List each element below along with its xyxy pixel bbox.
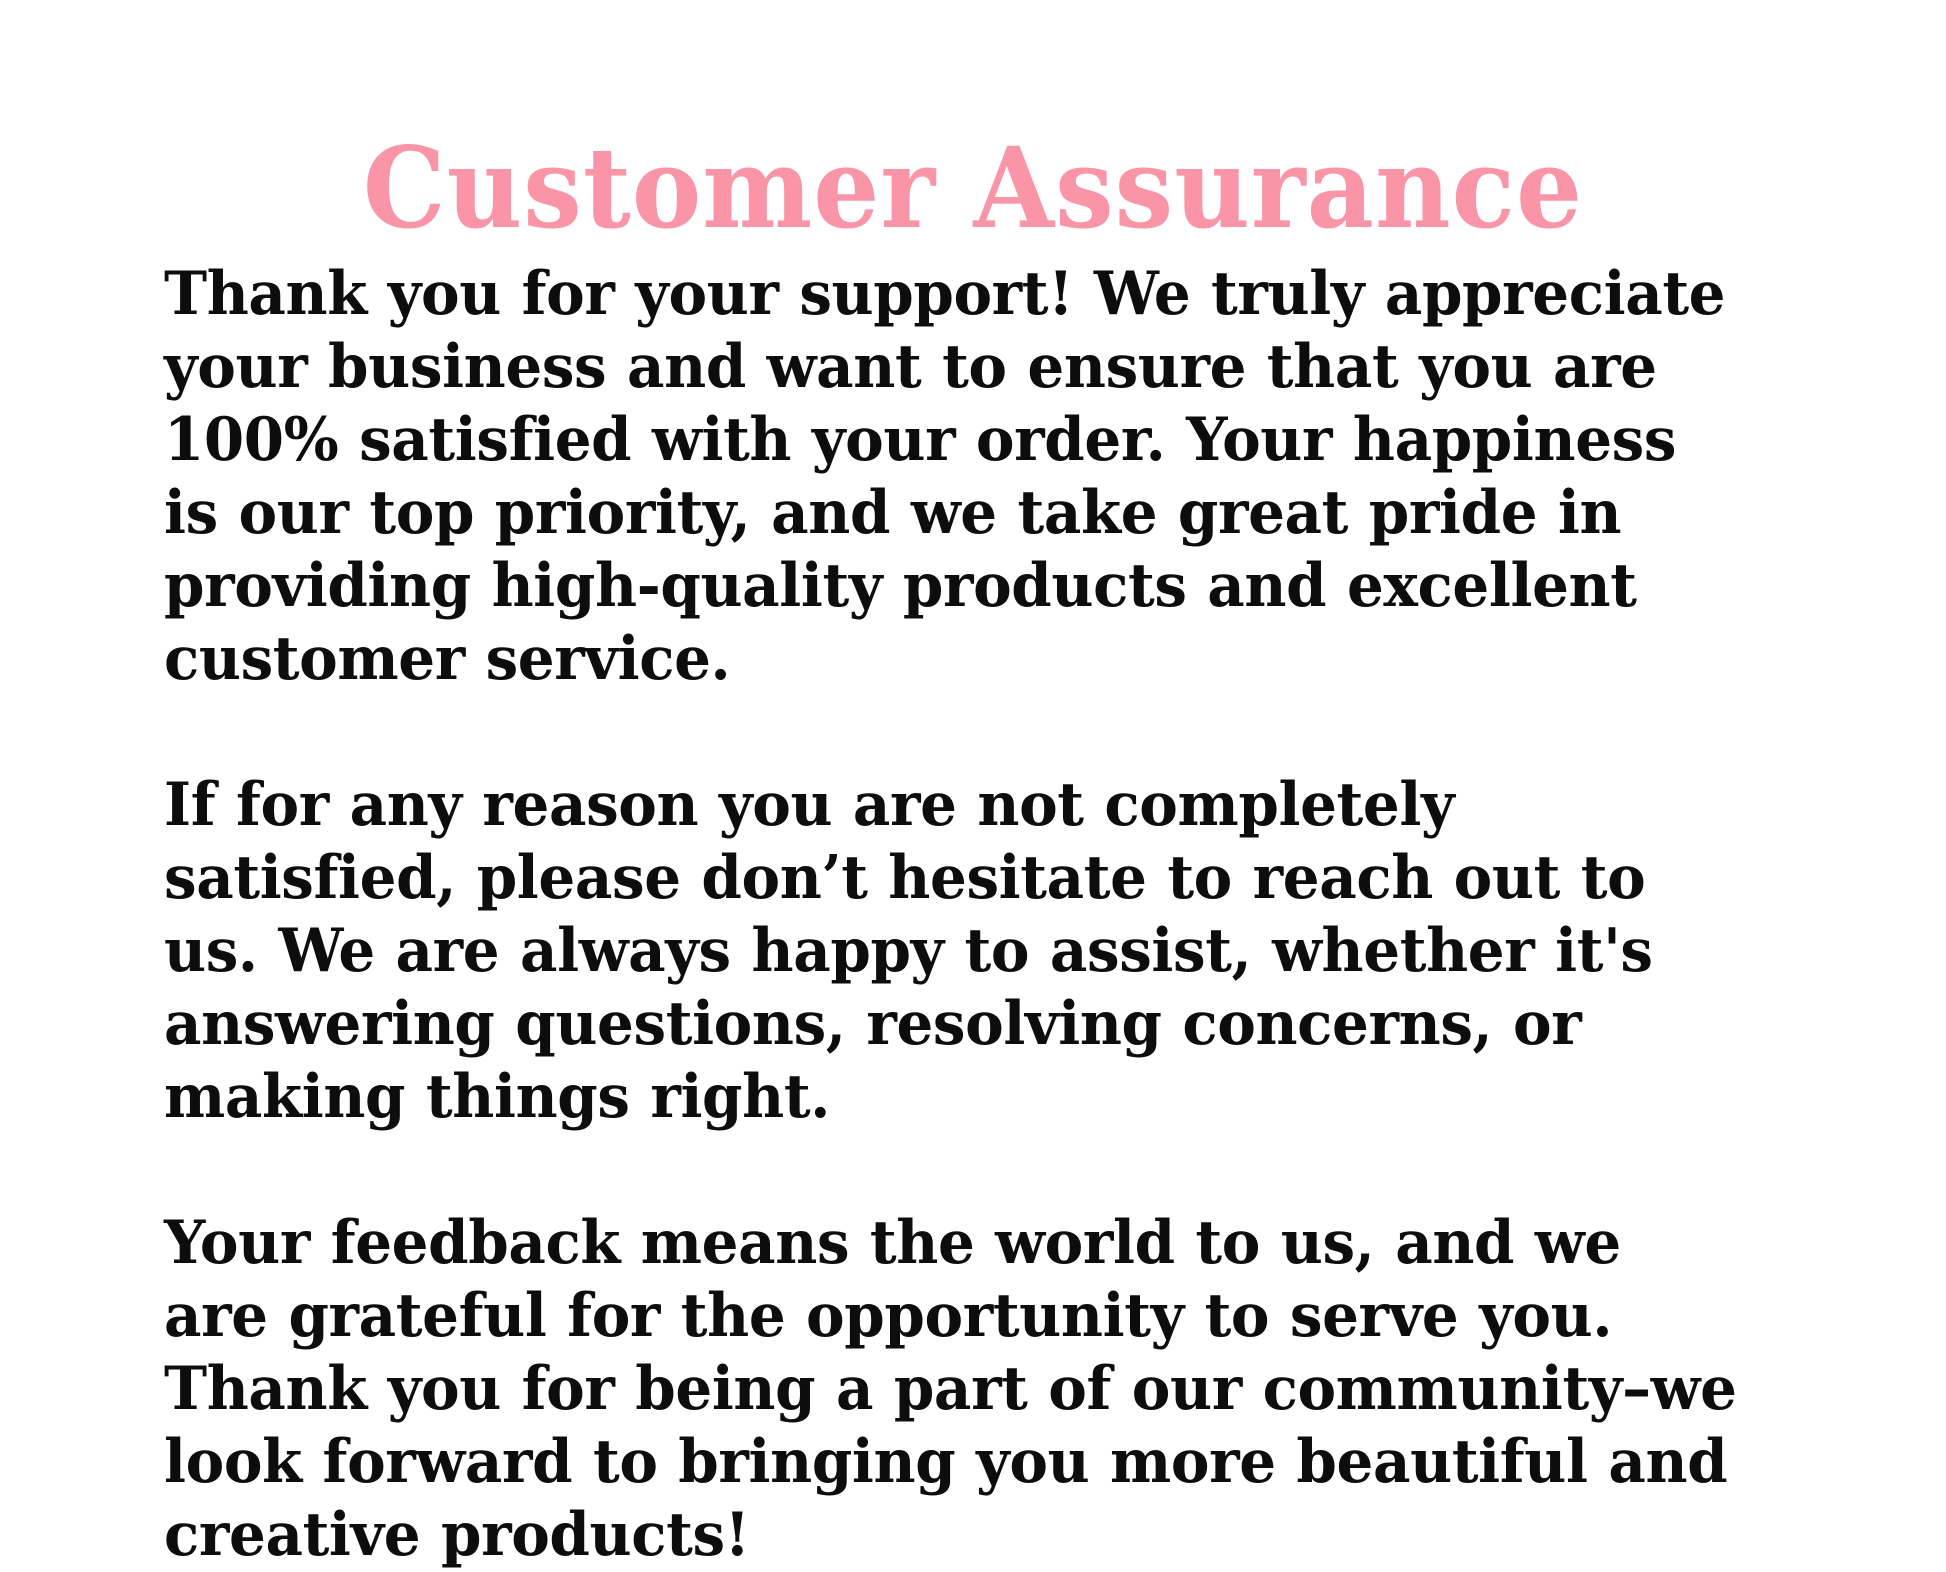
paragraph-feedback-thanks: Your feedback means the world to us, and…	[164, 1207, 1737, 1572]
assurance-page: Customer Assurance Thank you for your su…	[0, 0, 1946, 1459]
paragraph-appreciation: Thank you for your support! We truly app…	[164, 258, 1737, 696]
page-title: Customer Assurance	[0, 132, 1946, 246]
body-content: Thank you for your support! We truly app…	[164, 258, 1794, 1572]
paragraph-satisfaction-guarantee: If for any reason you are not completely…	[164, 769, 1737, 1134]
